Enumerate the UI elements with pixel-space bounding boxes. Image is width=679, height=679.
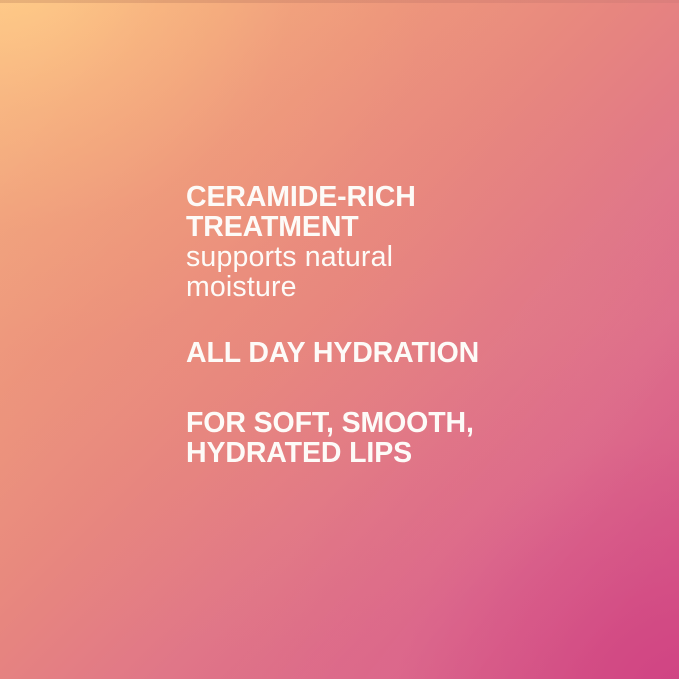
product-benefit-card: CERAMIDE-RICH TREATMENT supports natural… [0,0,679,679]
claim-block-ceramide-treatment: CERAMIDE-RICH TREATMENT supports natural… [186,182,606,302]
claim-line: HYDRATED LIPS [186,438,606,468]
claim-line: CERAMIDE-RICH [186,182,606,212]
claim-line: ALL DAY HYDRATION [186,338,606,368]
claim-block-all-day-hydration: ALL DAY HYDRATION [186,338,606,368]
claim-line: FOR SOFT, SMOOTH, [186,408,606,438]
benefit-copy-stack: CERAMIDE-RICH TREATMENT supports natural… [186,182,606,468]
claim-line: TREATMENT [186,212,606,242]
claim-block-soft-smooth-lips: FOR SOFT, SMOOTH, HYDRATED LIPS [186,408,606,468]
claim-line: supports natural [186,242,606,272]
claim-line: moisture [186,272,606,302]
